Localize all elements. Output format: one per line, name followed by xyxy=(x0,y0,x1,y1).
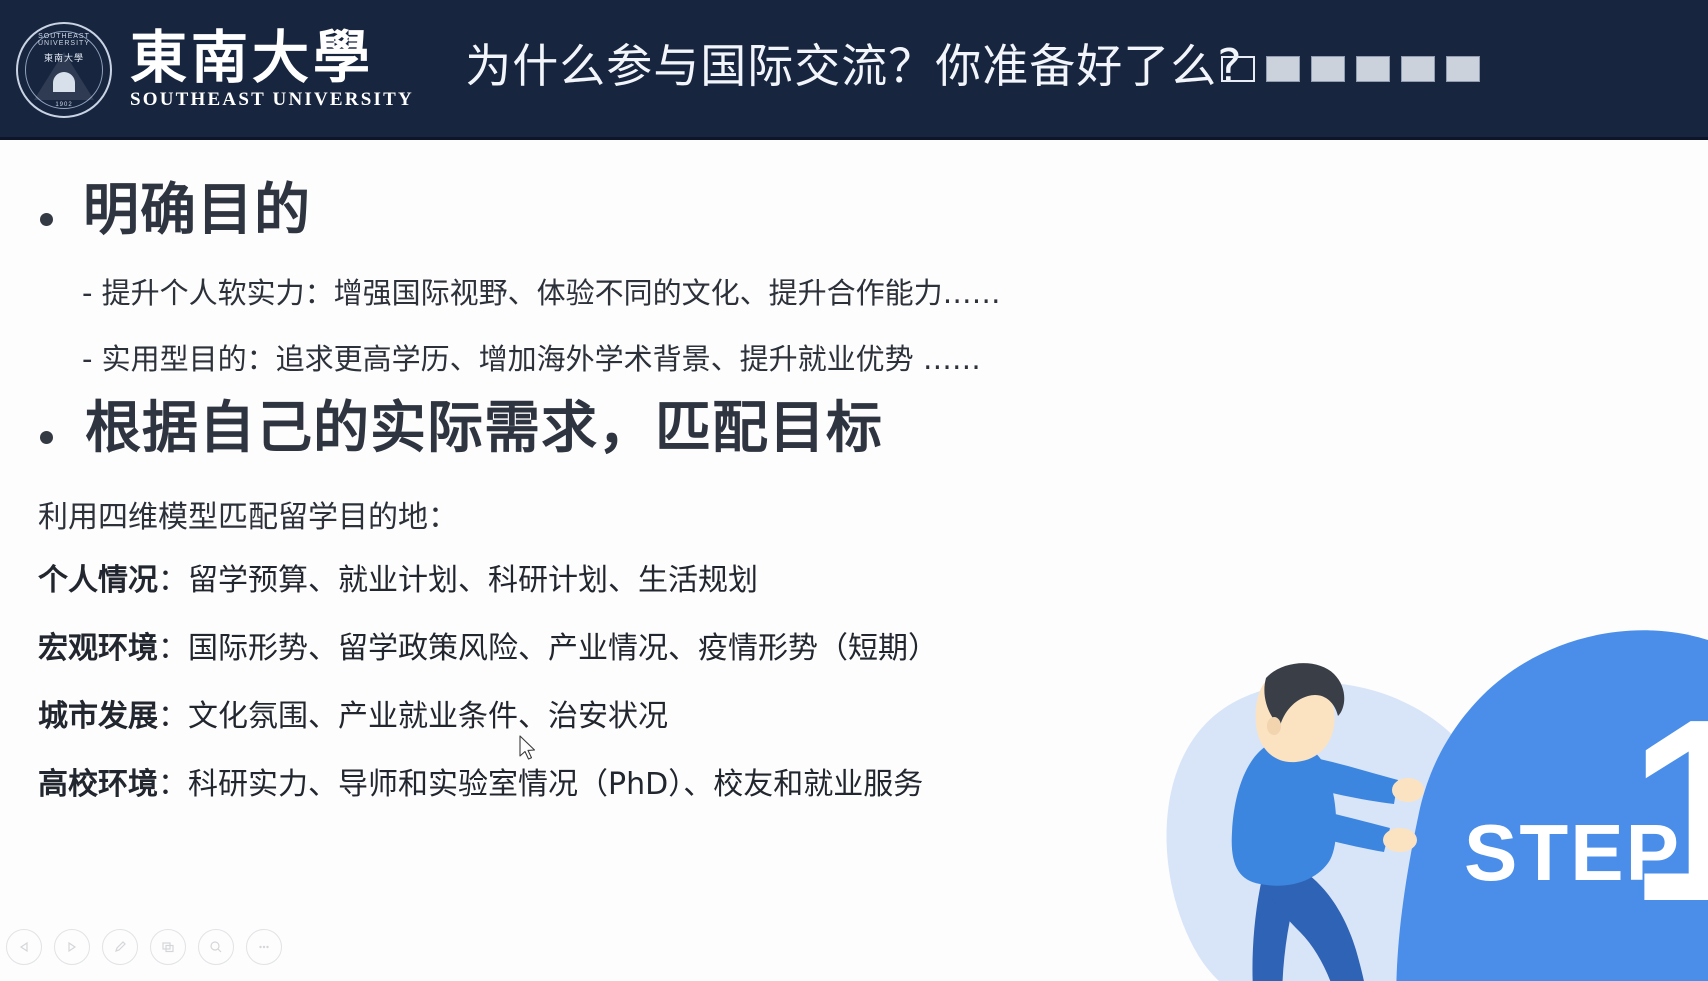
section-progress-indicator xyxy=(1221,56,1480,82)
figure-hair xyxy=(1264,663,1344,726)
pen-icon xyxy=(113,940,127,954)
pen-tool-button[interactable] xyxy=(102,929,138,965)
heading-1-text: 明确目的 xyxy=(83,180,311,242)
figure-back-leg xyxy=(1252,870,1300,981)
dimension-detail: 科研实力、导师和实验室情况（PhD）、校友和就业服务 xyxy=(188,767,923,802)
bullet-dot-icon xyxy=(40,431,53,444)
figure-lower-arm xyxy=(1266,798,1390,852)
dimension-separator: ： xyxy=(158,767,188,802)
university-seal-icon: SOUTHEAST UNIVERSITY 東南大學 1902 xyxy=(16,22,112,118)
dimension-separator: ： xyxy=(158,699,188,734)
seal-dome-shape xyxy=(53,72,75,92)
slide-header: SOUTHEAST UNIVERSITY 東南大學 1902 東南大學 SOUT… xyxy=(0,0,1708,140)
dimension-detail: 留学预算、就业计划、科研计划、生活规划 xyxy=(188,563,758,598)
figure-torso xyxy=(1232,740,1337,886)
bullet-dot-icon xyxy=(40,213,53,226)
illustration-blue-blob xyxy=(1396,630,1708,981)
step-one-illustration: STEP 1 xyxy=(1068,580,1708,981)
figure-upper-arm xyxy=(1300,756,1398,804)
dimension-row-macro: 宏观环境：国际形势、留学政策风险、产业情况、疫情形势（短期） xyxy=(38,623,938,667)
progress-square-6[interactable] xyxy=(1446,56,1480,82)
dimension-detail: 文化氛围、产业就业条件、治安状况 xyxy=(188,699,668,734)
more-options-button[interactable] xyxy=(246,929,282,965)
figure-hand-upper xyxy=(1392,778,1424,802)
sub-item-1: - 提升个人软实力：增强国际视野、体验不同的文化、提升合作能力…… xyxy=(82,270,1001,312)
dimension-row-university: 高校环境：科研实力、导师和实验室情况（PhD）、校友和就业服务 xyxy=(38,759,923,803)
magnifier-icon xyxy=(209,940,223,954)
dimension-row-personal: 个人情况：留学预算、就业计划、科研计划、生活规划 xyxy=(38,555,758,599)
slide-body: 明确目的 - 提升个人软实力：增强国际视野、体验不同的文化、提升合作能力…… -… xyxy=(0,140,1708,981)
ellipsis-icon xyxy=(256,939,272,955)
heading-2-text: 根据自己的实际需求，匹配目标 xyxy=(85,398,883,460)
logo-english-name: SOUTHEAST UNIVERSITY xyxy=(130,89,414,111)
model-intro-text: 利用四维模型匹配留学目的地： xyxy=(38,492,458,536)
progress-square-1[interactable] xyxy=(1221,56,1255,82)
dimension-label: 个人情况 xyxy=(38,563,158,598)
grid-icon xyxy=(161,940,175,954)
figure-front-leg xyxy=(1266,864,1368,981)
step-word-text: STEP xyxy=(1464,808,1681,897)
bullet-heading-2: 根据自己的实际需求，匹配目标 xyxy=(40,398,883,460)
university-logo: SOUTHEAST UNIVERSITY 東南大學 1902 東南大學 SOUT… xyxy=(16,22,414,118)
triangle-left-icon xyxy=(18,941,30,953)
dimension-label: 宏观环境 xyxy=(38,631,158,666)
dimension-row-city: 城市发展：文化氛围、产业就业条件、治安状况 xyxy=(38,691,668,735)
seal-bottom-text: 1902 xyxy=(18,102,110,108)
presentation-toolbar[interactable] xyxy=(6,929,282,965)
progress-square-5[interactable] xyxy=(1401,56,1435,82)
progress-square-2[interactable] xyxy=(1266,56,1300,82)
zoom-tool-button[interactable] xyxy=(198,929,234,965)
bullet-heading-1: 明确目的 xyxy=(40,180,311,242)
previous-slide-button[interactable] xyxy=(6,929,42,965)
logo-wordmark: 東南大學 SOUTHEAST UNIVERSITY xyxy=(130,29,414,110)
dimension-separator: ： xyxy=(158,563,188,598)
sub-item-2: - 实用型目的：追求更高学历、增加海外学术背景、提升就业优势 …… xyxy=(82,336,981,378)
presentation-slide: SOUTHEAST UNIVERSITY 東南大學 1902 東南大學 SOUT… xyxy=(0,0,1708,981)
seal-top-text: SOUTHEAST UNIVERSITY xyxy=(18,33,110,47)
figure-head xyxy=(1256,674,1335,762)
slide-overview-button[interactable] xyxy=(150,929,186,965)
figure-ear xyxy=(1267,717,1281,735)
triangle-right-icon xyxy=(66,941,78,953)
dimension-label: 高校环境 xyxy=(38,767,158,802)
illustration-backdrop-blob xyxy=(1167,682,1504,981)
progress-square-3[interactable] xyxy=(1311,56,1345,82)
figure-hand-lower xyxy=(1383,828,1417,852)
next-slide-button[interactable] xyxy=(54,929,90,965)
progress-square-4[interactable] xyxy=(1356,56,1390,82)
logo-chinese-name: 東南大學 xyxy=(130,29,414,87)
dimension-detail: 国际形势、留学政策风险、产业情况、疫情形势（短期） xyxy=(188,631,938,666)
dimension-separator: ： xyxy=(158,631,188,666)
dimension-label: 城市发展 xyxy=(38,699,158,734)
step-number-text: 1 xyxy=(1628,666,1708,956)
